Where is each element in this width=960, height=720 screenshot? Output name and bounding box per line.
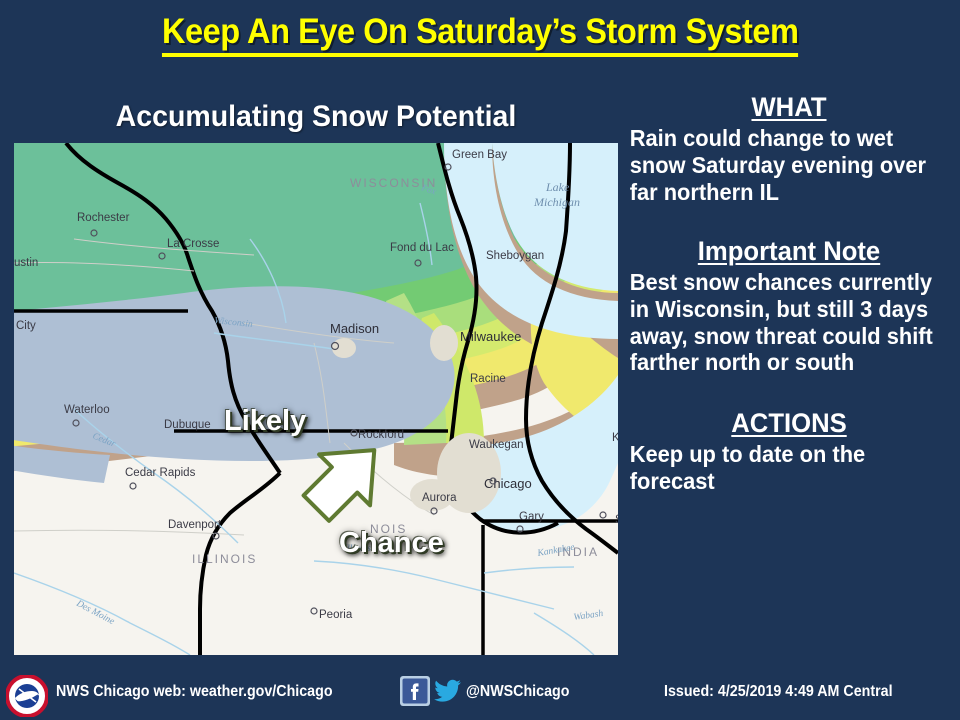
city-label-la-crosse: La Crosse <box>167 238 219 250</box>
city-label-rochester: Rochester <box>77 212 130 224</box>
state-label-illinois-2: ILLINOIS <box>192 552 257 566</box>
section-heading-what: WHAT <box>632 92 946 123</box>
city-label-racine: Racine <box>470 373 506 385</box>
city-label-gary: Gary <box>519 511 544 523</box>
snow-potential-map[interactable]: WISCONSIN NOIS ILLINOIS INDIA Lake Michi… <box>14 143 618 655</box>
weather-graphic: Keep An Eye On Saturday’s Storm System A… <box>0 0 960 720</box>
city-label-green-bay: Green Bay <box>452 149 507 161</box>
section-actions: ACTIONS Keep up to date on the forecast <box>624 408 954 495</box>
page-title: Keep An Eye On Saturday’s Storm System <box>162 12 799 57</box>
twitter-icon[interactable] <box>434 679 462 703</box>
water-label-lake-michigan-2: Michigan <box>533 195 580 209</box>
footer-bar: NWS Chicago web: weather.gov/Chicago @NW… <box>0 662 960 720</box>
section-body-important-note: Best snow chances currently in Wisconsin… <box>624 269 938 377</box>
footer-issued-time: Issued: 4/25/2019 4:49 AM Central <box>664 683 893 701</box>
city-label-fond-du-lac: Fond du Lac <box>390 242 454 254</box>
city-label-madison: Madison <box>330 321 379 336</box>
section-body-actions: Keep up to date on the forecast <box>624 441 938 495</box>
nws-logo-icon <box>6 675 48 717</box>
city-label-kalamazoo: Kal <box>612 432 618 444</box>
facebook-icon[interactable] <box>400 676 430 706</box>
section-heading-important-note: Important Note <box>632 236 946 267</box>
section-body-what: Rain could change to wet snow Saturday e… <box>624 125 938 206</box>
title-bar: Keep An Eye On Saturday’s Storm System <box>0 12 960 57</box>
section-heading-actions: ACTIONS <box>632 408 946 439</box>
city-label-davenport: Davenport <box>168 519 222 531</box>
city-label-austin: ustin <box>14 257 38 269</box>
city-label-rockford: Rockford <box>358 429 404 441</box>
city-label-aurora: Aurora <box>422 492 457 504</box>
city-label-south-bend: S <box>615 514 618 526</box>
section-what: WHAT Rain could change to wet snow Satur… <box>624 92 954 206</box>
city-label-sheboygan: Sheboygan <box>486 250 544 262</box>
map-heading: Accumulating Snow Potential <box>29 100 603 134</box>
city-label-waukegan: Waukegan <box>469 439 524 451</box>
city-label-peoria: Peoria <box>319 609 353 621</box>
section-important-note: Important Note Best snow chances current… <box>624 236 954 377</box>
city-label-milwaukee: Milwaukee <box>460 329 521 344</box>
city-label-cedar-rapids: Cedar Rapids <box>125 467 196 479</box>
prob-label-likely: Likely <box>224 406 306 436</box>
info-panel: WHAT Rain could change to wet snow Satur… <box>624 92 954 495</box>
water-label-lake-michigan-1: Lake <box>545 180 570 194</box>
prob-label-chance: Chance <box>339 528 444 558</box>
city-label-dubuque: Dubuque <box>164 419 211 431</box>
footer-office-text: NWS Chicago web: weather.gov/Chicago <box>56 683 333 701</box>
city-label-city: City <box>16 320 36 332</box>
footer-social-handle: @NWSChicago <box>466 683 569 701</box>
city-label-waterloo: Waterloo <box>64 404 110 416</box>
